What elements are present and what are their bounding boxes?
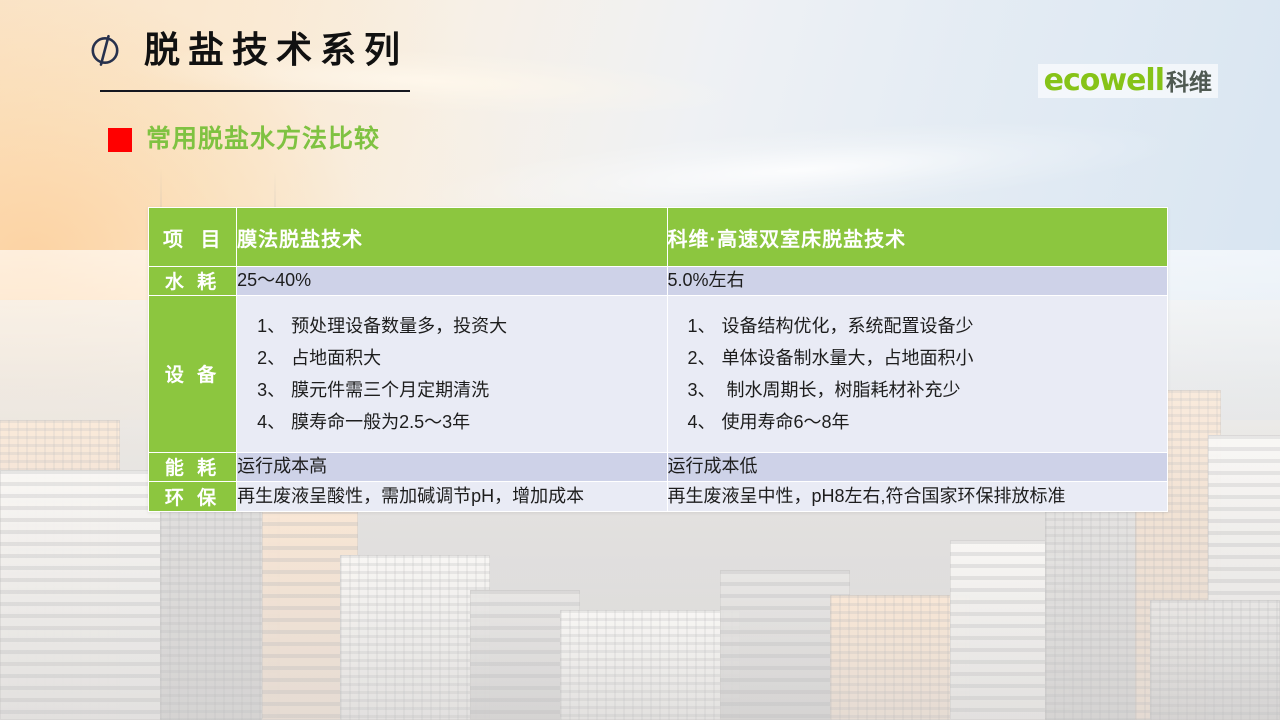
row-water-col2: 5.0%左右	[667, 267, 1168, 296]
row-label-energy: 能 耗	[149, 452, 237, 481]
table-row: 设 备 1、预处理设备数量多，投资大 2、占地面积大 3、膜元件需三个月定期清洗…	[149, 295, 1168, 452]
equipment-list-col2: 1、设备结构优化，系统配置设备少 2、单体设备制水量大，占地面积小 3、 制水周…	[688, 310, 1154, 438]
comparison-table: 项 目 膜法脱盐技术 科维·高速双室床脱盐技术 水 耗 25～40% 5.0%左…	[148, 207, 1168, 512]
table-row: 环 保 再生废液呈酸性，需加碱调节pH，增加成本 再生废液呈中性，pH8左右,符…	[149, 481, 1168, 511]
row-equipment-col2: 1、设备结构优化，系统配置设备少 2、单体设备制水量大，占地面积小 3、 制水周…	[667, 295, 1168, 452]
table-row: 水 耗 25～40% 5.0%左右	[149, 267, 1168, 296]
logo-secondary-text: 科维	[1166, 71, 1212, 94]
list-item: 1、设备结构优化，系统配置设备少	[688, 310, 1154, 342]
table-header-col2: 科维·高速双室床脱盐技术	[667, 208, 1168, 267]
row-water-col1: 25～40%	[237, 267, 667, 296]
row-energy-col2: 运行成本低	[667, 452, 1168, 481]
row-label-equipment: 设 备	[149, 295, 237, 452]
list-item: 3、膜元件需三个月定期清洗	[257, 374, 652, 406]
slide-canvas: 脱盐技术系列 ecowell 科维 常用脱盐水方法比较 项 目 膜法脱盐技术 科…	[0, 0, 1280, 720]
list-item: 2、单体设备制水量大，占地面积小	[688, 342, 1154, 374]
list-item: 4、使用寿命6～8年	[688, 406, 1154, 438]
row-energy-col1: 运行成本高	[237, 452, 667, 481]
row-environment-col1: 再生废液呈酸性，需加碱调节pH，增加成本	[237, 481, 667, 511]
list-item: 3、 制水周期长，树脂耗材补充少	[688, 374, 1154, 406]
row-label-environment: 环 保	[149, 481, 237, 511]
section-heading-label: 常用脱盐水方法比较	[146, 127, 380, 152]
table-row: 能 耗 运行成本高 运行成本低	[149, 452, 1168, 481]
logo-primary-text: ecowell	[1044, 66, 1164, 96]
list-item: 2、占地面积大	[257, 342, 652, 374]
row-environment-col2: 再生废液呈中性，pH8左右,符合国家环保排放标准	[667, 481, 1168, 511]
page-title: 脱盐技术系列	[144, 32, 408, 68]
equipment-list-col1: 1、预处理设备数量多，投资大 2、占地面积大 3、膜元件需三个月定期清洗 4、膜…	[257, 310, 652, 438]
table-header-row: 项 目 膜法脱盐技术 科维·高速双室床脱盐技术	[149, 208, 1168, 267]
brand-logo: ecowell 科维	[1038, 64, 1218, 98]
slide-title-row: 脱盐技术系列	[88, 32, 408, 68]
table-header-item: 项 目	[149, 208, 237, 267]
title-underline	[100, 90, 410, 92]
circle-slash-icon	[88, 33, 122, 67]
table-header-col1: 膜法脱盐技术	[237, 208, 667, 267]
list-item: 4、膜寿命一般为2.5～3年	[257, 406, 652, 438]
section-heading: 常用脱盐水方法比较	[108, 127, 380, 152]
list-item: 1、预处理设备数量多，投资大	[257, 310, 652, 342]
red-square-bullet-icon	[108, 128, 132, 152]
row-label-water: 水 耗	[149, 267, 237, 296]
row-equipment-col1: 1、预处理设备数量多，投资大 2、占地面积大 3、膜元件需三个月定期清洗 4、膜…	[237, 295, 667, 452]
